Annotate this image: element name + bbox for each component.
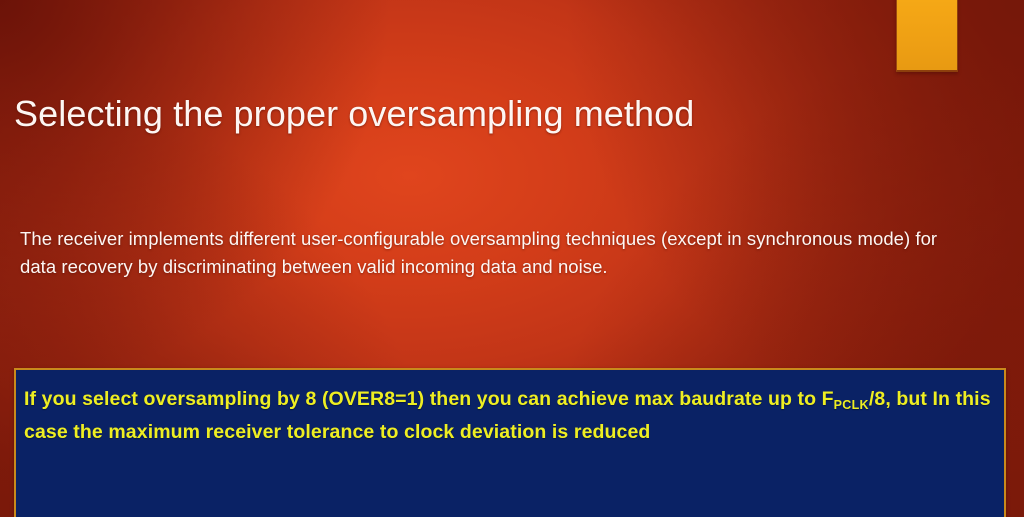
presentation-slide: Selecting the proper oversampling method…: [0, 0, 1024, 517]
accent-rectangle-decoration: [896, 0, 958, 72]
subscript-pclk: PCLK: [834, 398, 869, 412]
callout-paragraph-oversampling-8: If you select oversampling by 8 (OVER8=1…: [24, 384, 994, 448]
callout-box-content: If you select oversampling by 8 (OVER8=1…: [16, 370, 1004, 517]
slide-title: Selecting the proper oversampling method: [14, 91, 874, 137]
slide-subtitle-text: The receiver implements different user-c…: [20, 225, 960, 281]
callout-box: If you select oversampling by 8 (OVER8=1…: [14, 368, 1006, 517]
